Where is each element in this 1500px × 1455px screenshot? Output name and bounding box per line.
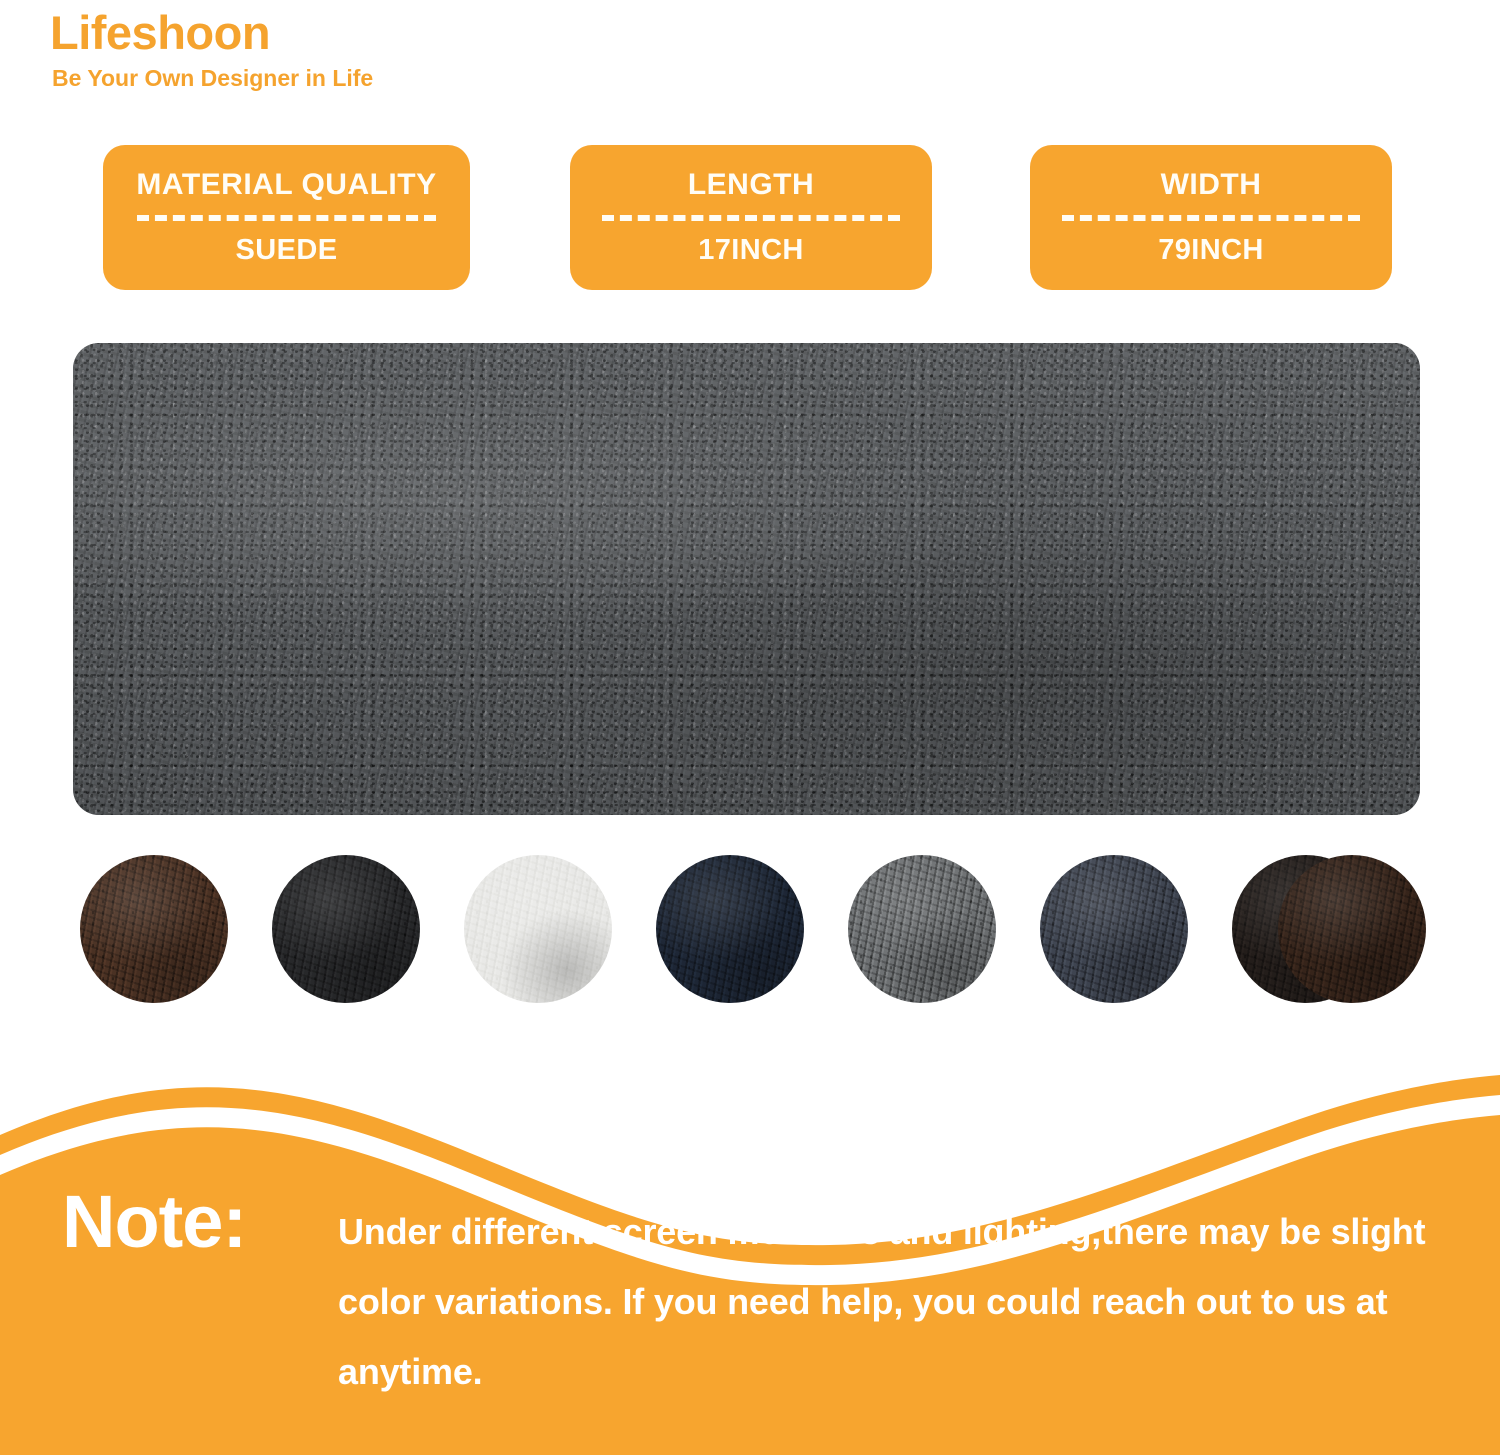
brand-tagline: Be Your Own Designer in Life — [52, 66, 373, 91]
swatch-shading — [656, 855, 804, 1003]
dashed-divider — [137, 215, 436, 221]
product-infographic: Lifeshoon Be Your Own Designer in Life M… — [0, 0, 1500, 1455]
color-swatch[interactable] — [464, 855, 612, 1003]
color-swatch[interactable] — [1278, 855, 1426, 1003]
color-swatch[interactable] — [1040, 855, 1188, 1003]
spec-badge-title: WIDTH — [1161, 170, 1262, 200]
spec-badge-title: LENGTH — [688, 170, 814, 200]
color-swatch[interactable] — [848, 855, 996, 1003]
spec-badge-title: MATERIAL QUALITY — [136, 170, 436, 200]
swatch-shading — [1278, 855, 1426, 1003]
product-photo — [73, 343, 1420, 815]
swatch-shading — [80, 855, 228, 1003]
dashed-divider — [602, 215, 900, 221]
color-swatch[interactable] — [656, 855, 804, 1003]
color-swatch[interactable] — [80, 855, 228, 1003]
color-swatch-row — [0, 855, 1500, 1015]
spec-badge-width: WIDTH 79INCH — [1030, 145, 1392, 290]
note-label: Note: — [62, 1185, 246, 1259]
dashed-divider — [1062, 215, 1360, 221]
spec-badge-value: 79INCH — [1158, 236, 1264, 265]
spec-badge-row: MATERIAL QUALITY SUEDE LENGTH 17INCH WID… — [0, 145, 1500, 295]
swatch-shading — [1040, 855, 1188, 1003]
spec-badge-value: SUEDE — [236, 236, 338, 265]
rug-lighting-sheen — [73, 343, 1420, 815]
brand-name: Lifeshoon — [50, 8, 373, 57]
swatch-shading — [464, 855, 612, 1003]
note-text: Under different screen monitors and ligh… — [338, 1197, 1458, 1408]
spec-badge-material-quality: MATERIAL QUALITY SUEDE — [103, 145, 470, 290]
swatch-shading — [272, 855, 420, 1003]
spec-badge-length: LENGTH 17INCH — [570, 145, 932, 290]
swatch-shading — [848, 855, 996, 1003]
brand-header: Lifeshoon Be Your Own Designer in Life — [50, 8, 373, 92]
color-swatch[interactable] — [272, 855, 420, 1003]
spec-badge-value: 17INCH — [698, 236, 804, 265]
